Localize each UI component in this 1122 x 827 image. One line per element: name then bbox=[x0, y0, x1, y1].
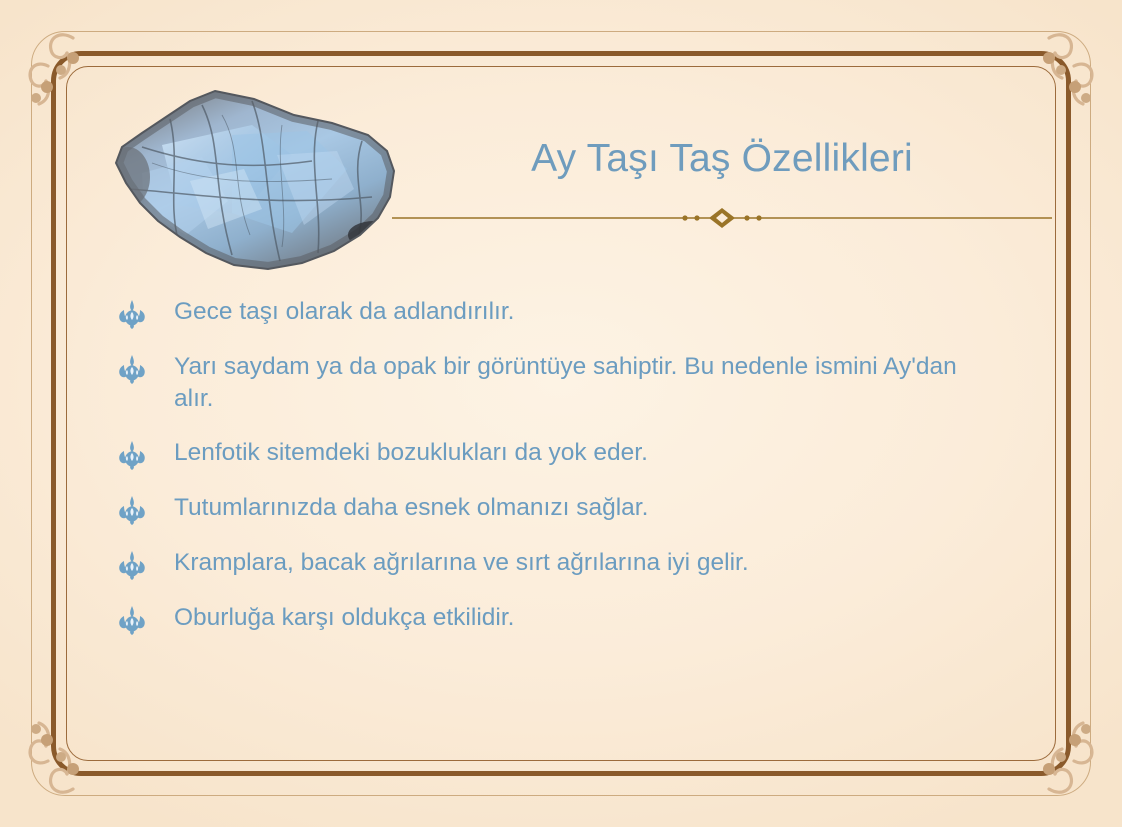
list-item: Tutumlarınızda daha esnek olmanızı sağla… bbox=[118, 492, 1018, 525]
fleur-de-lis-icon bbox=[118, 550, 146, 580]
list-item-text: Yarı saydam ya da opak bir görüntüye sah… bbox=[174, 351, 994, 415]
list-item: Lenfotik sitemdeki bozuklukları da yok e… bbox=[118, 437, 1018, 470]
diamond-ornament-divider-icon bbox=[392, 207, 1052, 229]
moonstone-image bbox=[82, 85, 422, 277]
list-item: Oburluğa karşı oldukça etkilidir. bbox=[118, 602, 1018, 635]
corner-flourish-icon bbox=[18, 689, 138, 809]
list-item-text: Lenfotik sitemdeki bozuklukları da yok e… bbox=[174, 437, 648, 469]
corner-flourish-icon bbox=[984, 18, 1104, 138]
stone-properties-list: Gece taşı olarak da adlandırılır. bbox=[118, 296, 1018, 657]
list-item: Gece taşı olarak da adlandırılır. bbox=[118, 296, 1018, 329]
fleur-de-lis-icon bbox=[118, 440, 146, 470]
stone-info-card: Ay Taşı Taş Özellikleri bbox=[0, 0, 1122, 827]
fleur-de-lis-icon bbox=[118, 299, 146, 329]
list-item-text: Gece taşı olarak da adlandırılır. bbox=[174, 296, 514, 328]
list-item-text: Tutumlarınızda daha esnek olmanızı sağla… bbox=[174, 492, 648, 524]
page-title: Ay Taşı Taş Özellikleri bbox=[392, 138, 1052, 181]
fleur-de-lis-icon bbox=[118, 354, 146, 384]
list-item: Yarı saydam ya da opak bir görüntüye sah… bbox=[118, 351, 1018, 415]
list-item-text: Kramplara, bacak ağrılarına ve sırt ağrı… bbox=[174, 547, 749, 579]
fleur-de-lis-icon bbox=[118, 605, 146, 635]
list-item: Kramplara, bacak ağrılarına ve sırt ağrı… bbox=[118, 547, 1018, 580]
corner-flourish-icon bbox=[984, 689, 1104, 809]
fleur-de-lis-icon bbox=[118, 495, 146, 525]
list-item-text: Oburluğa karşı oldukça etkilidir. bbox=[174, 602, 514, 634]
title-block: Ay Taşı Taş Özellikleri bbox=[392, 138, 1052, 229]
